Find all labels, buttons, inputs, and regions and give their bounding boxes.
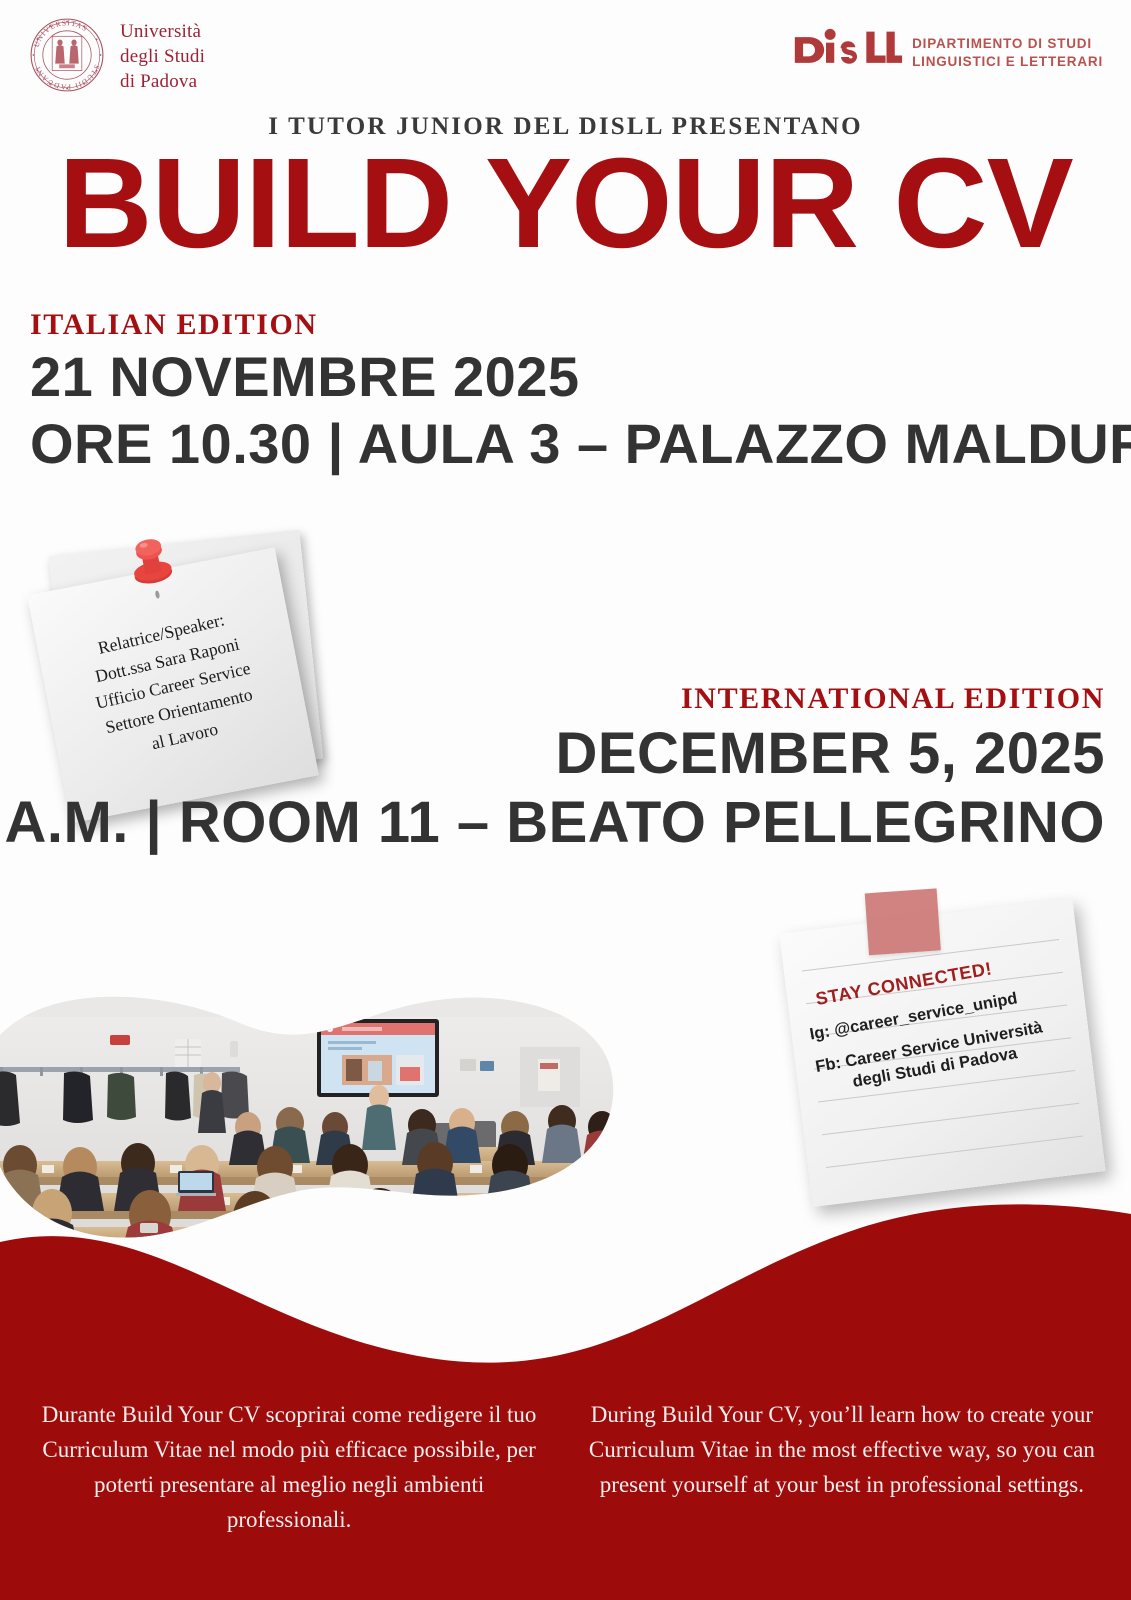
italian-edition-date: 21 NOVEMBRE 2025: [30, 348, 1131, 405]
footer-english-text: During Build Your CV, you’ll learn how t…: [587, 1398, 1097, 1538]
international-edition-date: DECEMBER 5, 2025: [0, 724, 1105, 783]
international-edition-block: INTERNATIONAL EDITION DECEMBER 5, 2025 1…: [0, 682, 1105, 852]
footer-italian-text: Durante Build Your CV scoprirai come red…: [34, 1398, 544, 1538]
university-line2: degli Studi: [120, 46, 205, 67]
international-edition-label: INTERNATIONAL EDITION: [0, 682, 1105, 716]
italian-edition-block: ITALIAN EDITION 21 NOVEMBRE 2025 ORE 10.…: [30, 308, 1131, 472]
italian-edition-time-venue: ORE 10.30 | AULA 3 – PALAZZO MALDURA: [30, 415, 1131, 472]
page-title: BUILD YOUR CV: [0, 140, 1131, 268]
footer-descriptions: Durante Build Your CV scoprirai come red…: [0, 1398, 1131, 1538]
department-sub-line2: LINGUISTICI E LETTERARI: [912, 53, 1103, 71]
unipd-seal-icon: UNIVERSITAS STUDII PADUANI: [28, 16, 106, 99]
poster-canvas: UNIVERSITAS STUDII PADUANI Università de…: [0, 0, 1131, 1600]
disll-wordmark-icon: [793, 28, 903, 77]
department-sub-line1: DIPARTIMENTO DI STUDI: [912, 35, 1103, 53]
social-note-text: STAY CONNECTED! Ig: @career_service_unip…: [773, 891, 1111, 1213]
university-wordmark: Università degli Studi di Padova: [120, 20, 205, 94]
university-logo: UNIVERSITAS STUDII PADUANI Università de…: [28, 16, 205, 99]
department-subtitle: DIPARTIMENTO DI STUDI LINGUISTICI E LETT…: [912, 35, 1103, 70]
university-line1: Università: [120, 21, 201, 42]
university-line3: di Padova: [120, 71, 197, 92]
social-note: STAY CONNECTED! Ig: @career_service_unip…: [779, 898, 1105, 1207]
italian-edition-label: ITALIAN EDITION: [30, 308, 1131, 342]
international-edition-time-venue: 10.30 A.M. | ROOM 11 – BEATO PELLEGRINO: [0, 793, 1105, 852]
department-logo: DIPARTIMENTO DI STUDI LINGUISTICI E LETT…: [793, 28, 1103, 77]
